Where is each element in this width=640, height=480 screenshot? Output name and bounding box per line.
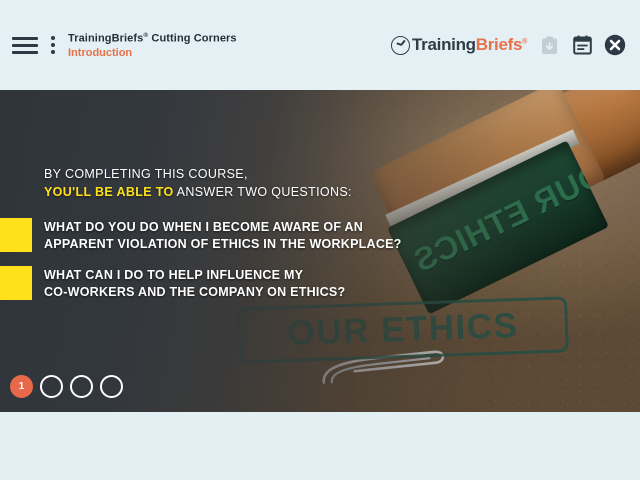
- intro-line-2: YOU'LL BE ABLE TO ANSWER TWO QUESTIONS:: [44, 183, 352, 201]
- hamburger-bar: [12, 51, 38, 54]
- course-title-brand: TrainingBriefs: [68, 32, 143, 44]
- player-header: TrainingBriefs® Cutting Corners Introduc…: [0, 0, 640, 90]
- pagination-dot-4[interactable]: [100, 375, 123, 398]
- slide-pagination: 1: [10, 375, 123, 398]
- course-title-name: Cutting Corners: [148, 32, 236, 44]
- pagination-dot-3[interactable]: [70, 375, 93, 398]
- kebab-dot: [51, 50, 55, 54]
- objective-item-1: WHAT DO YOU DO WHEN I BECOME AWARE OF AN…: [0, 218, 402, 253]
- course-player: TrainingBriefs® Cutting Corners Introduc…: [0, 0, 640, 480]
- header-titles: TrainingBriefs® Cutting Corners Introduc…: [68, 31, 237, 60]
- objective-1-line-2: APPARENT VIOLATION OF ETHICS IN THE WORK…: [44, 236, 402, 253]
- intro-highlight: YOU'LL BE ABLE TO: [44, 185, 174, 199]
- notes-document-icon[interactable]: [571, 34, 593, 56]
- stopwatch-icon: [391, 36, 410, 55]
- brand-word-training: Training: [412, 35, 476, 54]
- hamburger-bar: [12, 44, 38, 47]
- kebab-dot: [51, 43, 55, 47]
- kebab-dot: [51, 36, 55, 40]
- course-title: TrainingBriefs® Cutting Corners: [68, 32, 237, 45]
- intro-line-2-rest: ANSWER TWO QUESTIONS:: [174, 185, 352, 199]
- trainingbriefs-logo: TrainingBriefs®: [391, 35, 527, 55]
- brand-word-briefs: Briefs: [476, 35, 522, 54]
- intro-line-1: BY COMPLETING THIS COURSE,: [44, 165, 352, 183]
- objective-1-line-1: WHAT DO YOU DO WHEN I BECOME AWARE OF AN: [44, 219, 402, 236]
- slide-intro-text: BY COMPLETING THIS COURSE, YOU'LL BE ABL…: [44, 165, 352, 201]
- notes-document-glyph: [573, 35, 592, 55]
- more-options-icon[interactable]: [46, 34, 60, 56]
- objective-2-line-1: WHAT CAN I DO TO HELP INFLUENCE MY: [44, 267, 345, 284]
- section-title: Introduction: [68, 47, 237, 60]
- pagination-dot-1[interactable]: 1: [10, 375, 33, 398]
- header-left-group: TrainingBriefs® Cutting Corners Introduc…: [8, 31, 237, 60]
- close-x-icon[interactable]: [604, 34, 626, 56]
- slide-stage: OUR ETHICS OUR ETHICS BY COMPLETING THIS…: [0, 90, 640, 412]
- pagination-dot-2[interactable]: [40, 375, 63, 398]
- download-clipboard-icon[interactable]: [538, 34, 560, 56]
- close-x-glyph: [604, 34, 626, 56]
- objective-1-text: WHAT DO YOU DO WHEN I BECOME AWARE OF AN…: [44, 218, 402, 253]
- objective-2-line-2: CO-WORKERS AND THE COMPANY ON ETHICS?: [44, 284, 345, 301]
- hamburger-bar: [12, 37, 38, 40]
- objective-bullet-marker: [0, 266, 32, 300]
- download-clipboard-glyph: [541, 36, 558, 55]
- header-right-group: TrainingBriefs®: [391, 34, 630, 56]
- player-footer-area: [0, 412, 640, 480]
- objective-item-2: WHAT CAN I DO TO HELP INFLUENCE MY CO-WO…: [0, 266, 345, 301]
- objective-2-text: WHAT CAN I DO TO HELP INFLUENCE MY CO-WO…: [44, 266, 345, 301]
- brand-registered-mark: ®: [522, 38, 527, 45]
- objective-bullet-marker: [0, 218, 32, 252]
- pagination-dot-1-label: 1: [19, 381, 25, 392]
- hamburger-menu-icon[interactable]: [12, 35, 38, 55]
- brand-wordmark: TrainingBriefs®: [412, 35, 527, 55]
